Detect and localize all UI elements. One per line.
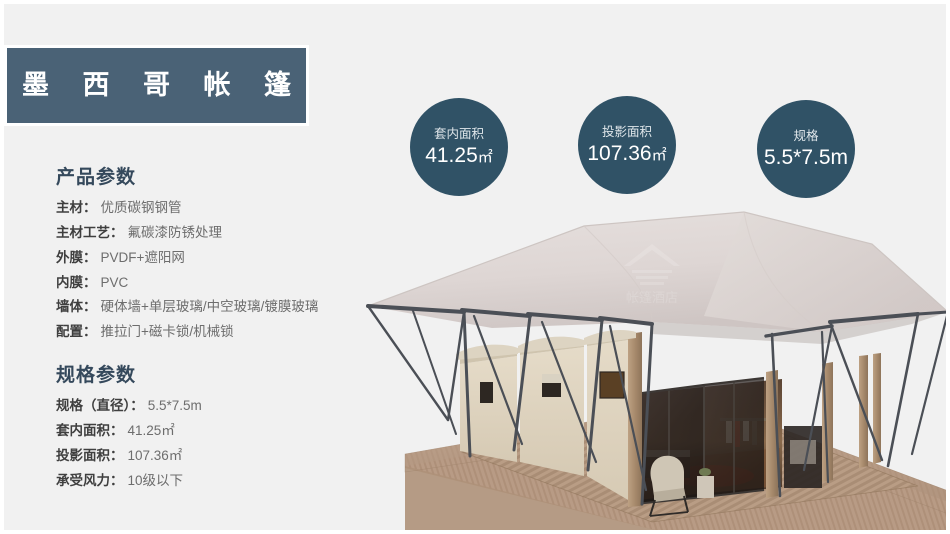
- spec-label: 主材工艺：: [56, 225, 124, 242]
- spec-row: 投影面积： 107.36㎡: [56, 448, 386, 465]
- spec-row: 配置： 推拉门+磁卡锁/机械锁: [56, 324, 386, 341]
- stat-badge-label: 套内面积: [434, 128, 484, 142]
- stat-badge-group: 套内面积 41.25㎡ 投影面积 107.36㎡ 规格 5.5*7.5m: [410, 96, 880, 200]
- title-banner: 墨 西 哥 帐 篷: [4, 45, 309, 126]
- spec-value: 硬体墙+单层玻璃/中空玻璃/镀膜玻璃: [101, 299, 319, 316]
- spec-value: 41.25㎡: [128, 423, 175, 440]
- spec-row: 规格（直径）： 5.5*7.5m: [56, 398, 386, 415]
- stat-badge-unit: ㎡: [652, 147, 667, 164]
- spec-label: 主材：: [56, 200, 97, 217]
- stat-badge-unit: ㎡: [478, 149, 493, 166]
- section-heading-specification: 规格参数: [56, 366, 386, 387]
- spec-label: 配置：: [56, 324, 97, 341]
- spec-value: 优质碳钢钢管: [101, 200, 182, 217]
- watermark-text: 帐篷酒店: [626, 290, 678, 305]
- spec-label: 投影面积：: [56, 448, 124, 465]
- spec-row: 墙体： 硬体墙+单层玻璃/中空玻璃/镀膜玻璃: [56, 299, 386, 316]
- stat-badge-value: 5.5*7.5m: [764, 147, 848, 168]
- stat-badge-dimensions: 规格 5.5*7.5m: [757, 100, 855, 198]
- spec-value: PVDF+遮阳网: [101, 250, 185, 267]
- tent-render-image: 帐篷酒店: [352, 204, 950, 534]
- spec-value: 氟碳漆防锈处理: [128, 225, 223, 242]
- stat-badge-value: 107.36㎡: [587, 143, 666, 164]
- spec-value: 107.36㎡: [128, 448, 183, 465]
- spec-row: 主材工艺： 氟碳漆防锈处理: [56, 225, 386, 242]
- stat-badge-label: 规格: [793, 130, 818, 144]
- spec-list-specification: 规格（直径）： 5.5*7.5m 套内面积： 41.25㎡ 投影面积： 107.…: [56, 398, 386, 490]
- spec-list-product: 主材： 优质碳钢钢管 主材工艺： 氟碳漆防锈处理 外膜： PVDF+遮阳网 内膜…: [56, 200, 386, 341]
- spec-row: 承受风力： 10级以下: [56, 473, 386, 490]
- section-divider: [56, 349, 386, 366]
- spec-row: 内膜： PVC: [56, 275, 386, 292]
- spec-value: 5.5*7.5m: [148, 398, 202, 415]
- spec-panel: 产品参数 主材： 优质碳钢钢管 主材工艺： 氟碳漆防锈处理 外膜： PVDF+遮…: [56, 168, 386, 498]
- spec-label: 规格（直径）：: [56, 398, 144, 415]
- spec-row: 主材： 优质碳钢钢管: [56, 200, 386, 217]
- spec-row: 套内面积： 41.25㎡: [56, 423, 386, 440]
- page-title: 墨 西 哥 帐 篷: [9, 72, 304, 99]
- product-spec-page: 墨 西 哥 帐 篷 产品参数 主材： 优质碳钢钢管 主材工艺： 氟碳漆防锈处理 …: [0, 0, 950, 534]
- spec-row: 外膜： PVDF+遮阳网: [56, 250, 386, 267]
- spec-label: 内膜：: [56, 275, 97, 292]
- spec-value: 推拉门+磁卡锁/机械锁: [101, 324, 234, 341]
- stat-badge-indoor-area: 套内面积 41.25㎡: [410, 98, 508, 196]
- spec-label: 墙体：: [56, 299, 97, 316]
- spec-value: 10级以下: [128, 473, 184, 490]
- spec-label: 承受风力：: [56, 473, 124, 490]
- spec-label: 套内面积：: [56, 423, 124, 440]
- spec-label: 外膜：: [56, 250, 97, 267]
- spec-value: PVC: [101, 275, 129, 292]
- stat-badge-label: 投影面积: [602, 126, 652, 140]
- stat-badge-projected-area: 投影面积 107.36㎡: [578, 96, 676, 194]
- section-heading-product: 产品参数: [56, 168, 386, 189]
- stat-badge-value: 41.25㎡: [425, 145, 493, 166]
